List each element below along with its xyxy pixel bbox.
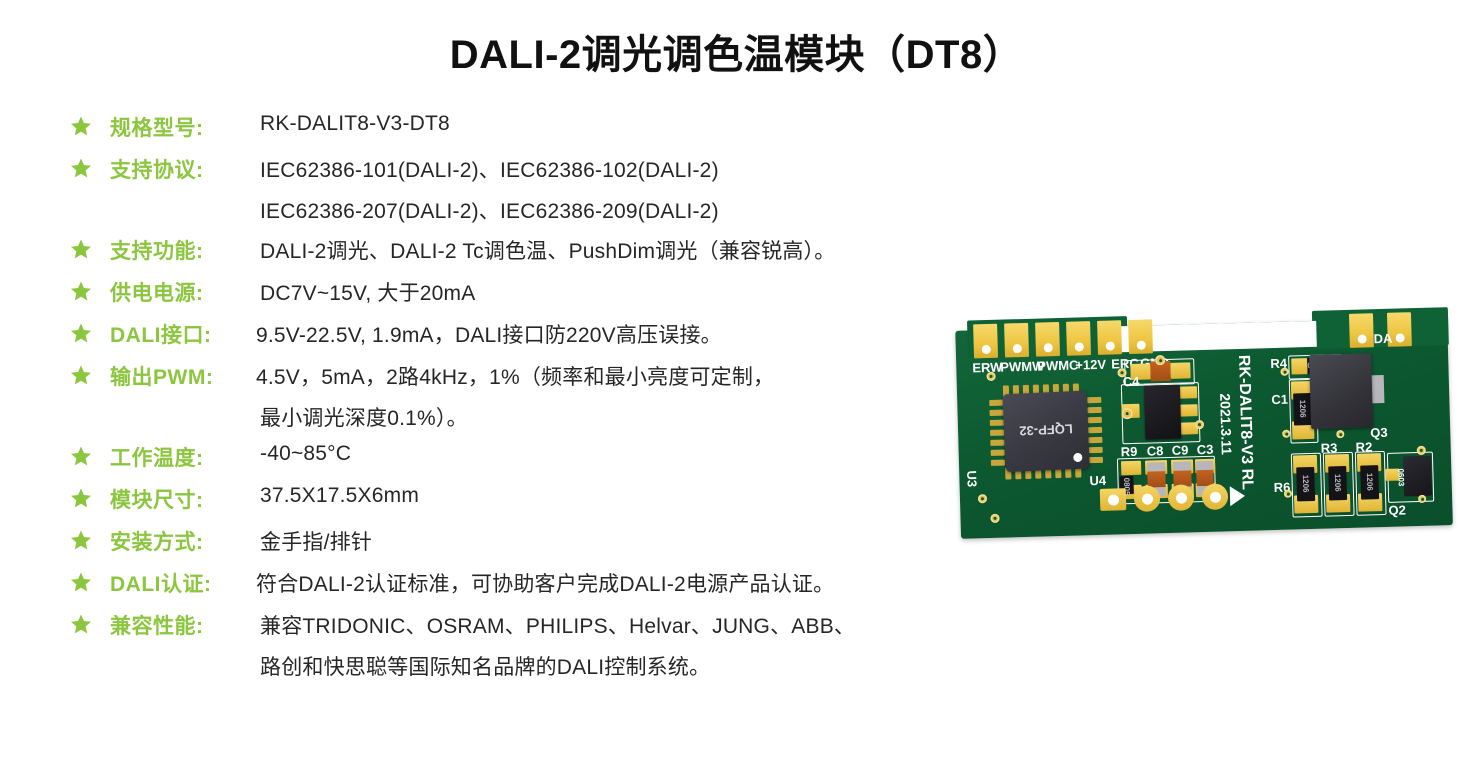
qfp-leg xyxy=(1088,417,1102,423)
pcb-ref-q3: Q3 xyxy=(1370,425,1388,440)
package-mark-0603: 0603 xyxy=(1396,468,1405,486)
chip-part-number: LQFP-32 xyxy=(1010,421,1083,439)
spec-row: 支持协议: IEC62386-101(DALI-2)、IEC62386-102(… xyxy=(64,154,964,234)
spec-label: 兼容性能: xyxy=(110,610,204,640)
smd-pad xyxy=(1121,461,1141,476)
qfp-leg xyxy=(1089,457,1103,463)
spec-row: DALI接口: 9.5V-22.5V, 1.9mA，DALI接口防220V高压误… xyxy=(64,319,964,358)
spec-value-line2: 路创和快思聪等国际知名品牌的DALI控制系统。 xyxy=(260,651,710,681)
spec-label: 模块尺寸: xyxy=(110,484,204,514)
star-icon xyxy=(70,280,92,302)
star-icon xyxy=(70,613,92,635)
star-icon xyxy=(70,529,92,551)
bottom-pad-square xyxy=(1100,488,1127,511)
qfp-leg xyxy=(990,430,1004,436)
spec-value: 4.5V，5mA，2路4kHz，1%（频率和最小亮度可定制， xyxy=(256,361,774,391)
page-title: DALI-2调光调色温模块（DT8） xyxy=(0,22,1473,80)
qfp-leg xyxy=(991,460,1005,466)
spec-value: IEC62386-101(DALI-2)、IEC62386-102(DALI-2… xyxy=(260,154,719,184)
spec-row: 安装方式: 金手指/排针 xyxy=(64,526,964,565)
spec-row: 供电电源: DC7V~15V, 大于20mA xyxy=(64,277,964,316)
spec-row: 支持功能: DALI-2调光、DALI-2 Tc调色温、PushDim调光（兼容… xyxy=(64,235,964,274)
star-icon xyxy=(70,115,92,137)
spec-label: 安装方式: xyxy=(110,526,204,556)
spec-value: 兼容TRIDONIC、OSRAM、PHILIPS、Helvar、JUNG、ABB… xyxy=(260,610,855,640)
spec-row: 工作温度: -40~85°C xyxy=(64,442,964,481)
pcb-product-photo: ERW PWMW PWMC +12V ERC GND DA xyxy=(946,296,1461,554)
pcb-ref-u3: U3 xyxy=(964,470,979,487)
cap-c1: 1206 xyxy=(1293,393,1312,425)
spec-label: 支持协议: xyxy=(110,154,204,184)
spec-row: 规格型号: RK-DALIT8-V3-DT8 xyxy=(64,112,964,151)
spec-value-line2: IEC62386-207(DALI-2)、IEC62386-209(DALI-2… xyxy=(260,195,719,225)
pcb-ref-q2: Q2 xyxy=(1388,502,1406,517)
star-icon xyxy=(70,364,92,386)
qfp-leg xyxy=(1087,407,1101,413)
pcb-part-number: RK-DALIT8-V3 RL xyxy=(1234,355,1256,491)
package-mark-1206b: 1206 xyxy=(1301,475,1310,493)
mosfet-q3 xyxy=(1309,353,1373,429)
spec-label: 支持功能: xyxy=(110,235,204,265)
qfp-leg xyxy=(990,420,1004,426)
pcb-ref-u4: U4 xyxy=(1089,473,1106,488)
spec-value: DC7V~15V, 大于20mA xyxy=(260,277,475,307)
qfp-leg xyxy=(1088,427,1102,433)
transistor-q2 xyxy=(1403,456,1432,497)
package-mark-1206c: 1206 xyxy=(1333,474,1342,492)
spec-row: 兼容性能: 兼容TRIDONIC、OSRAM、PHILIPS、Helvar、JU… xyxy=(64,610,964,690)
star-icon xyxy=(70,445,92,467)
spec-value-line2: 最小调光深度0.1%）。 xyxy=(260,402,468,432)
voltage-regulator xyxy=(1144,385,1181,440)
qfp-leg xyxy=(991,450,1005,456)
spec-label: 规格型号: xyxy=(110,112,204,142)
spec-label: 工作温度: xyxy=(110,442,204,472)
spec-label: 输出PWM: xyxy=(110,361,213,391)
spec-value: -40~85°C xyxy=(260,442,351,466)
smd-pad xyxy=(1291,358,1307,374)
spec-row: DALI认证: 符合DALI-2认证标准，可协助客户完成DALI-2电源产品认证… xyxy=(64,568,964,607)
qfp-leg xyxy=(1087,397,1101,403)
pcb-label-12v: +12V xyxy=(1075,357,1106,373)
resistor-r6: 1206 xyxy=(1296,467,1315,501)
chip-pin1-dot xyxy=(1073,453,1082,462)
qfp-leg xyxy=(989,410,1003,416)
package-mark-1206d: 1206 xyxy=(1365,473,1374,491)
lqfp32-chip: LQFP-32 xyxy=(1002,391,1089,473)
pcb-ref-c1: C1 xyxy=(1271,392,1288,407)
spec-value: 符合DALI-2认证标准，可协助客户完成DALI-2电源产品认证。 xyxy=(256,568,834,598)
smd-pad xyxy=(1170,362,1190,379)
pcb-board: ERW PWMW PWMC +12V ERC GND DA xyxy=(942,289,1464,561)
spec-value: 金手指/排针 xyxy=(260,526,372,556)
smd-pad xyxy=(1179,386,1197,398)
star-icon xyxy=(70,571,92,593)
star-icon xyxy=(70,238,92,260)
spec-value: 37.5X17.5X6mm xyxy=(260,484,419,508)
qfp-leg xyxy=(1089,447,1103,453)
resistor-r2: 1206 xyxy=(1360,465,1379,499)
star-icon xyxy=(70,157,92,179)
smd-pad xyxy=(1179,404,1197,416)
spec-label: DALI接口: xyxy=(110,319,212,349)
spec-list: 规格型号: RK-DALIT8-V3-DT8 支持协议: IEC62386-10… xyxy=(64,112,964,691)
star-icon xyxy=(70,487,92,509)
pcb-label-da: DA xyxy=(1373,331,1392,347)
spec-row: 模块尺寸: 37.5X17.5X6mm xyxy=(64,484,964,523)
resistor-r3: 1206 xyxy=(1328,466,1347,500)
package-mark-1206a: 1206 xyxy=(1298,400,1307,418)
star-icon xyxy=(70,322,92,344)
spec-label: 供电电源: xyxy=(110,277,204,307)
spec-row: 输出PWM: 4.5V，5mA，2路4kHz，1%（频率和最小亮度可定制， 最小… xyxy=(64,361,964,441)
pcb-triangle-marker xyxy=(1230,486,1246,506)
pcb-label-pwmc: PWMC xyxy=(1037,357,1079,373)
qfp-leg xyxy=(1088,437,1102,443)
qfp-leg xyxy=(989,400,1003,406)
spec-value: 9.5V-22.5V, 1.9mA，DALI接口防220V高压误接。 xyxy=(256,319,722,349)
qfp-leg xyxy=(990,440,1004,446)
spec-label: DALI认证: xyxy=(110,568,212,598)
spec-value: RK-DALIT8-V3-DT8 xyxy=(260,112,450,136)
spec-value: DALI-2调光、DALI-2 Tc调色温、PushDim调光（兼容锐高）。 xyxy=(260,235,835,265)
pcb-date-code: 2021.3.11 xyxy=(1217,393,1235,455)
